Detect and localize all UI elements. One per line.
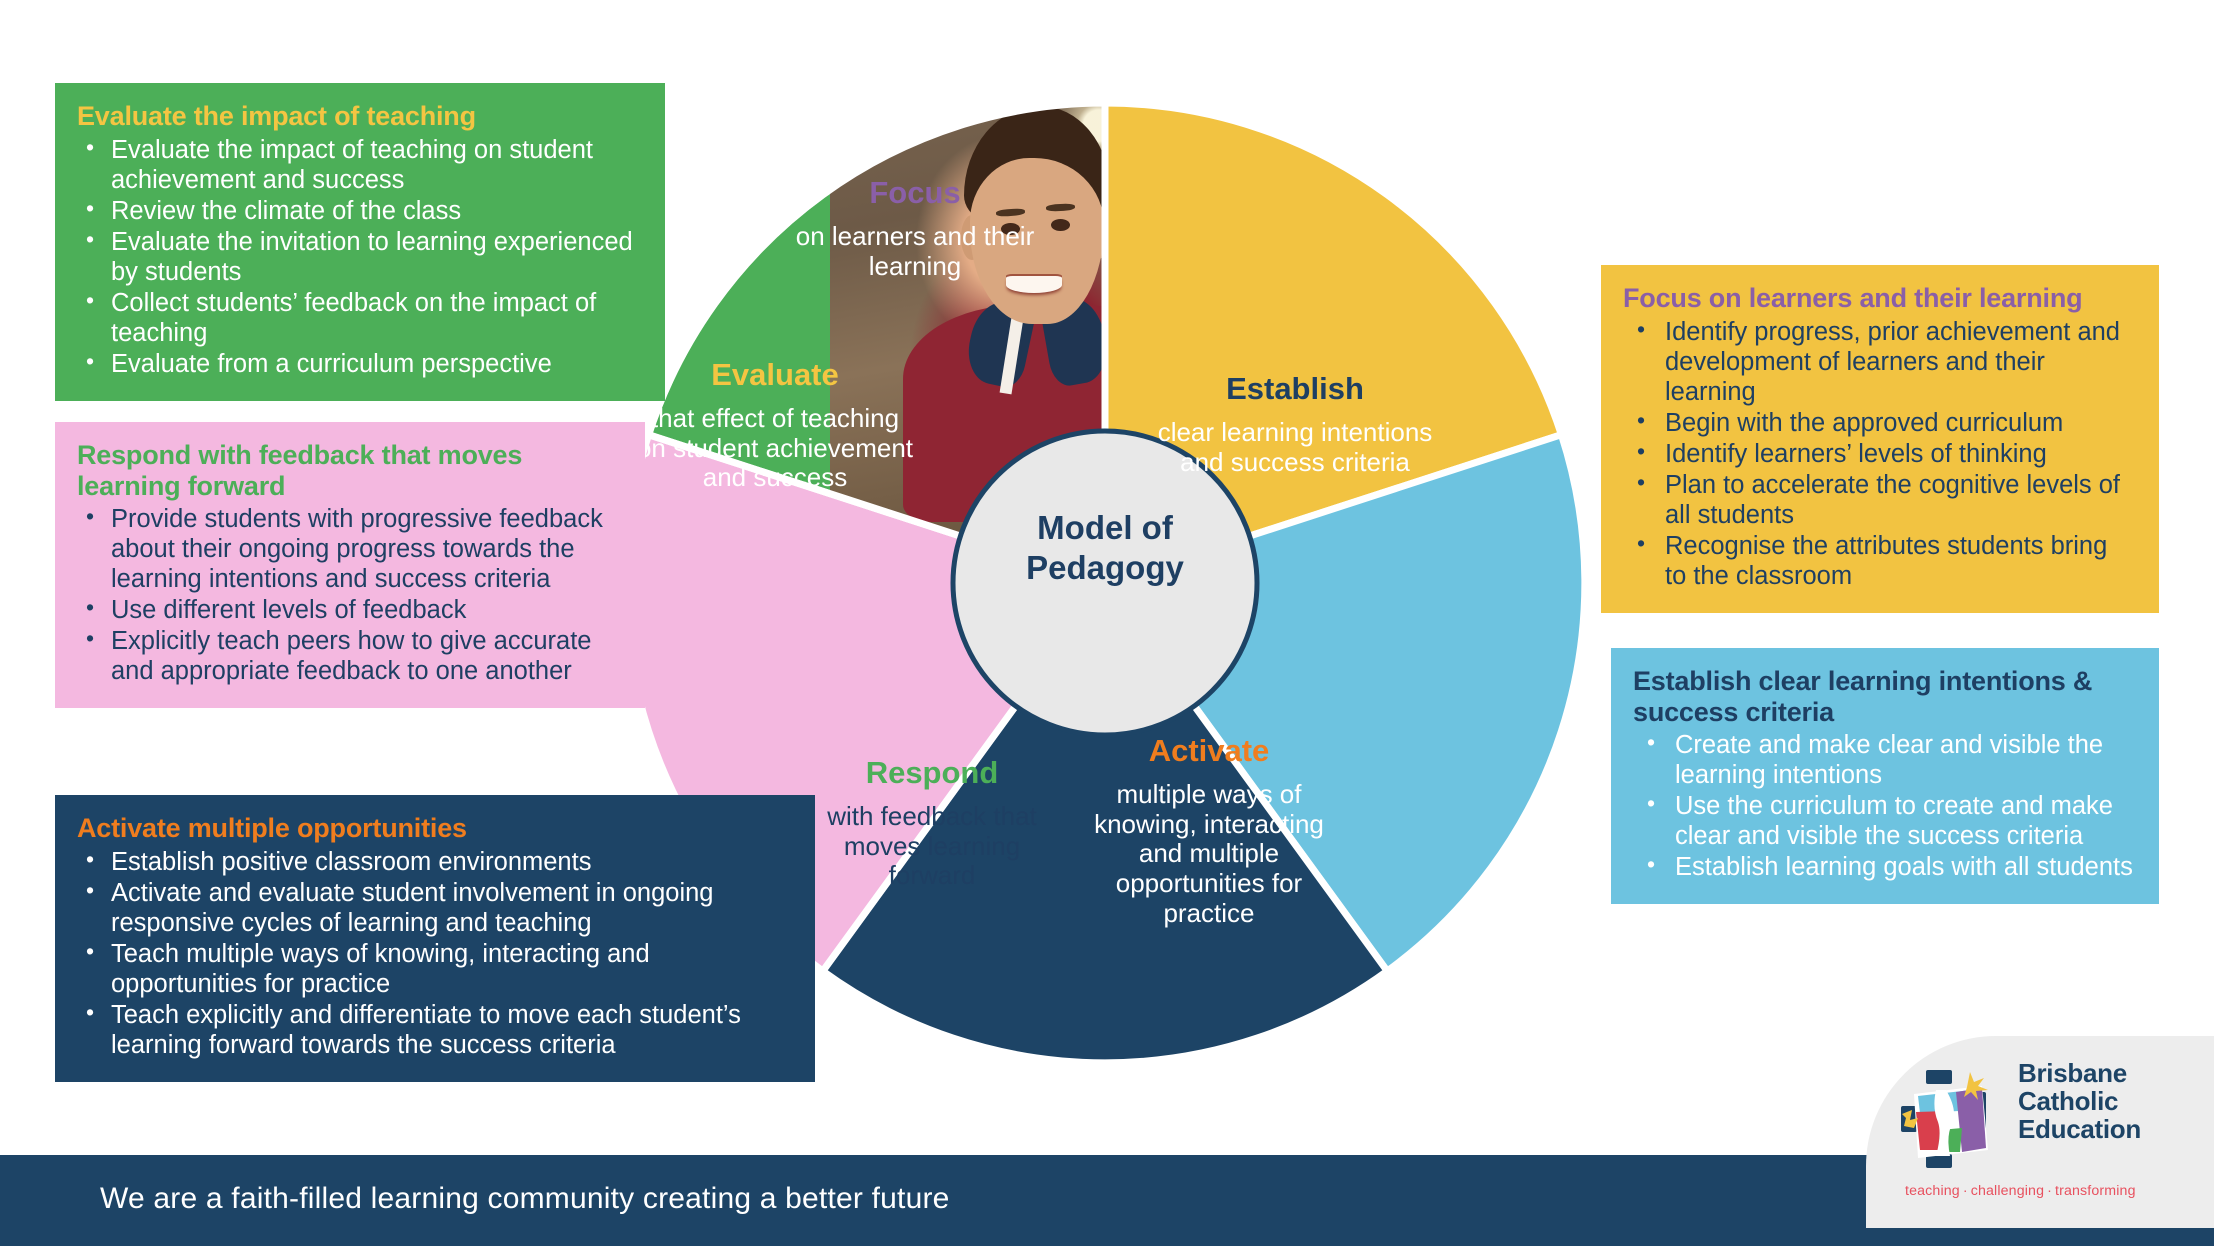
brisbane-catholic-education-logo-icon [1896, 1066, 2014, 1172]
info-box-focus-title: Focus on learners and their learning [1623, 283, 2133, 314]
list-item: Evaluate the impact of teaching on stude… [77, 135, 639, 195]
list-item: Explicitly teach peers how to give accur… [77, 626, 619, 686]
logo-line-2: Catholic [2018, 1088, 2214, 1116]
list-item: Use different levels of feedback [77, 595, 619, 625]
info-box-establish-title: Establish clear learning intentions & su… [1633, 666, 2133, 727]
info-box-establish: Establish clear learning intentions & su… [1611, 648, 2159, 904]
slide-canvas: Model of Pedagogy Focus on learners and … [0, 0, 2214, 1246]
list-item: Review the climate of the class [77, 196, 639, 226]
info-box-evaluate-list: Evaluate the impact of teaching on stude… [77, 135, 639, 380]
info-box-respond: Respond with feedback that moves learnin… [55, 422, 645, 708]
list-item: Establish positive classroom environment… [77, 847, 789, 877]
wheel-hub[interactable] [953, 431, 1257, 735]
list-item: Use the curriculum to create and make cl… [1633, 791, 2133, 851]
info-box-activate: Activate multiple opportunities Establis… [55, 795, 815, 1082]
list-item: Collect students’ feedback on the impact… [77, 288, 639, 348]
list-item: Teach explicitly and differentiate to mo… [77, 1000, 789, 1060]
info-box-respond-list: Provide students with progressive feedba… [77, 504, 619, 686]
logo-line-3: Education [2018, 1116, 2214, 1144]
info-box-activate-title: Activate multiple opportunities [77, 813, 789, 844]
list-item: Plan to accelerate the cognitive levels … [1623, 470, 2133, 530]
info-box-evaluate-title: Evaluate the impact of teaching [77, 101, 639, 132]
info-box-focus-list: Identify progress, prior achievement and… [1623, 317, 2133, 592]
info-box-respond-title: Respond with feedback that moves learnin… [77, 440, 619, 501]
info-box-activate-list: Establish positive classroom environment… [77, 847, 789, 1061]
list-item: Evaluate the invitation to learning expe… [77, 227, 639, 287]
list-item: Establish learning goals with all studen… [1633, 852, 2133, 882]
list-item: Create and make clear and visible the le… [1633, 730, 2133, 790]
list-item: Begin with the approved curriculum [1623, 408, 2133, 438]
info-box-establish-list: Create and make clear and visible the le… [1633, 730, 2133, 882]
list-item: Evaluate from a curriculum perspective [77, 349, 639, 379]
logo-wordmark: Brisbane Catholic Education [2018, 1060, 2214, 1143]
footer-tagline: We are a faith-filled learning community… [100, 1182, 950, 1216]
list-item: Provide students with progressive feedba… [77, 504, 619, 594]
info-box-focus: Focus on learners and their learning Ide… [1601, 265, 2159, 613]
info-box-evaluate: Evaluate the impact of teaching Evaluate… [55, 83, 665, 401]
list-item: Activate and evaluate student involvemen… [77, 878, 789, 938]
logo-tagline: teaching · challenging · transforming [1905, 1183, 2136, 1199]
list-item: Recognise the attributes students bring … [1623, 531, 2133, 591]
list-item: Identify learners’ levels of thinking [1623, 439, 2133, 469]
list-item: Teach multiple ways of knowing, interact… [77, 939, 789, 999]
list-item: Identify progress, prior achievement and… [1623, 317, 2133, 407]
logo-line-1: Brisbane [2018, 1060, 2214, 1088]
